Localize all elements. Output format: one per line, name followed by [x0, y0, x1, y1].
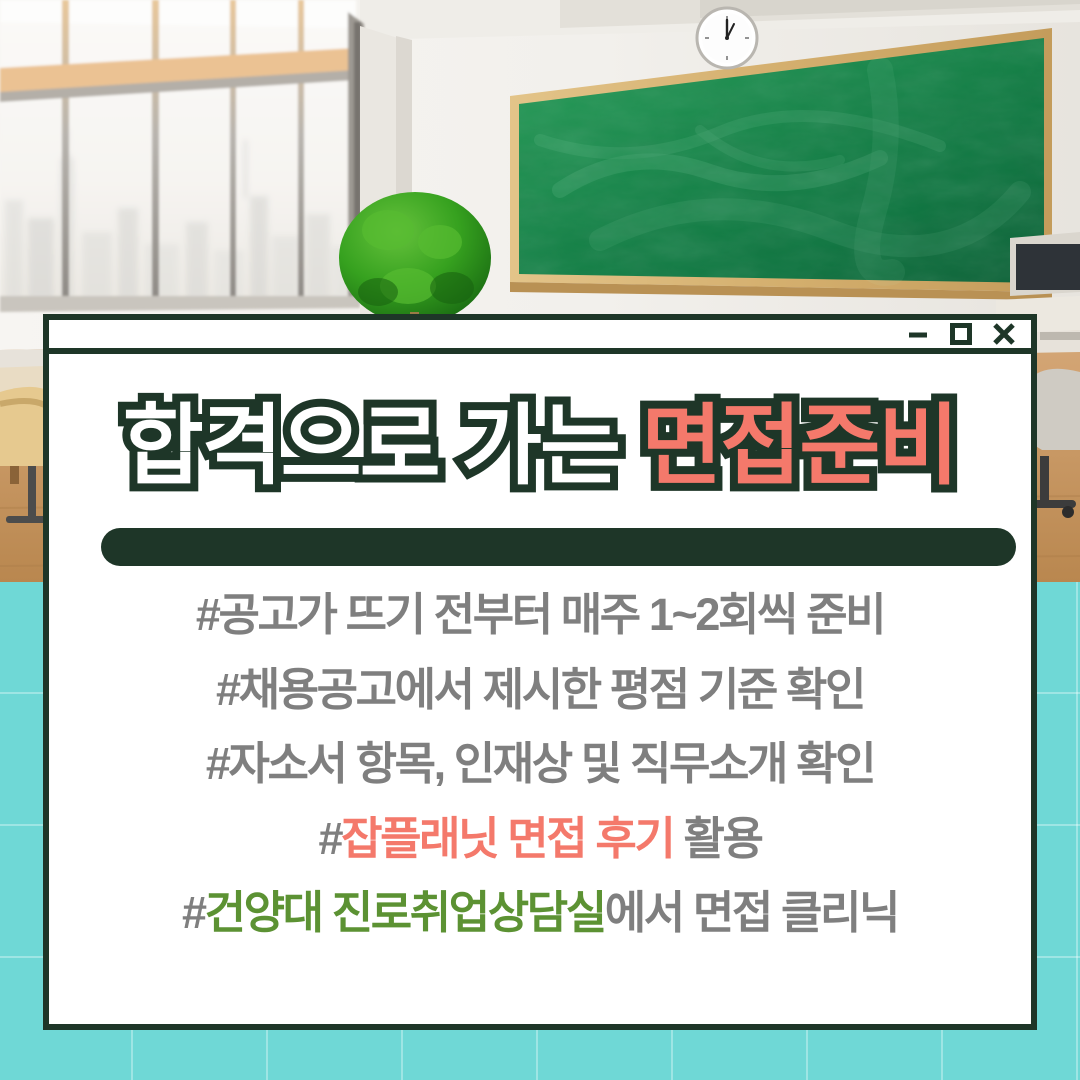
page-title: 합격으로 가는 면접준비 — [49, 402, 1031, 490]
hashtag-line: #잡플래닛 면접 후기 활용 — [79, 810, 1001, 868]
app-window: 합격으로 가는 면접준비 #공고가 뜨기 전부터 매주 1~2회씩 준비#채용공… — [43, 314, 1037, 1030]
hashtag-segment: #채용공고에서 제시한 평점 기준 확인 — [216, 664, 864, 715]
hashtag-line: #건양대 진로취업상담실에서 면접 클리닉 — [79, 884, 1001, 942]
hashtag-segment: 잡플래닛 면접 후기 — [341, 813, 673, 864]
hashtag-segment: # — [319, 813, 342, 864]
page-title-part2: 면접준비 — [641, 396, 957, 495]
window-title-bar — [49, 320, 1031, 354]
page-title-part1: 합격으로 가는 — [123, 396, 642, 495]
wall-clock-illustration — [697, 8, 757, 68]
window-content: 합격으로 가는 면접준비 #공고가 뜨기 전부터 매주 1~2회씩 준비#채용공… — [49, 354, 1031, 1024]
hashtag-segment: 활용 — [673, 813, 761, 864]
minimize-icon[interactable] — [905, 321, 931, 347]
headline-block: 합격으로 가는 면접준비 — [49, 354, 1031, 572]
hashtag-segment: 건양대 진로취업상담실 — [205, 887, 605, 938]
hashtag-line: #공고가 뜨기 전부터 매주 1~2회씩 준비 — [79, 586, 1001, 644]
headline-underbar — [101, 528, 1016, 566]
hashtag-list: #공고가 뜨기 전부터 매주 1~2회씩 준비#채용공고에서 제시한 평점 기준… — [49, 572, 1031, 1024]
maximize-icon[interactable] — [948, 321, 974, 347]
hashtag-segment: # — [182, 887, 205, 938]
hashtag-segment: #공고가 뜨기 전부터 매주 1~2회씩 준비 — [196, 589, 884, 640]
hashtag-segment: #자소서 항목, 인재상 및 직무소개 확인 — [206, 738, 874, 789]
hashtag-segment: 에서 면접 클리닉 — [605, 887, 898, 938]
close-icon[interactable] — [991, 321, 1017, 347]
hashtag-line: #자소서 항목, 인재상 및 직무소개 확인 — [79, 735, 1001, 793]
hashtag-line: #채용공고에서 제시한 평점 기준 확인 — [79, 661, 1001, 719]
